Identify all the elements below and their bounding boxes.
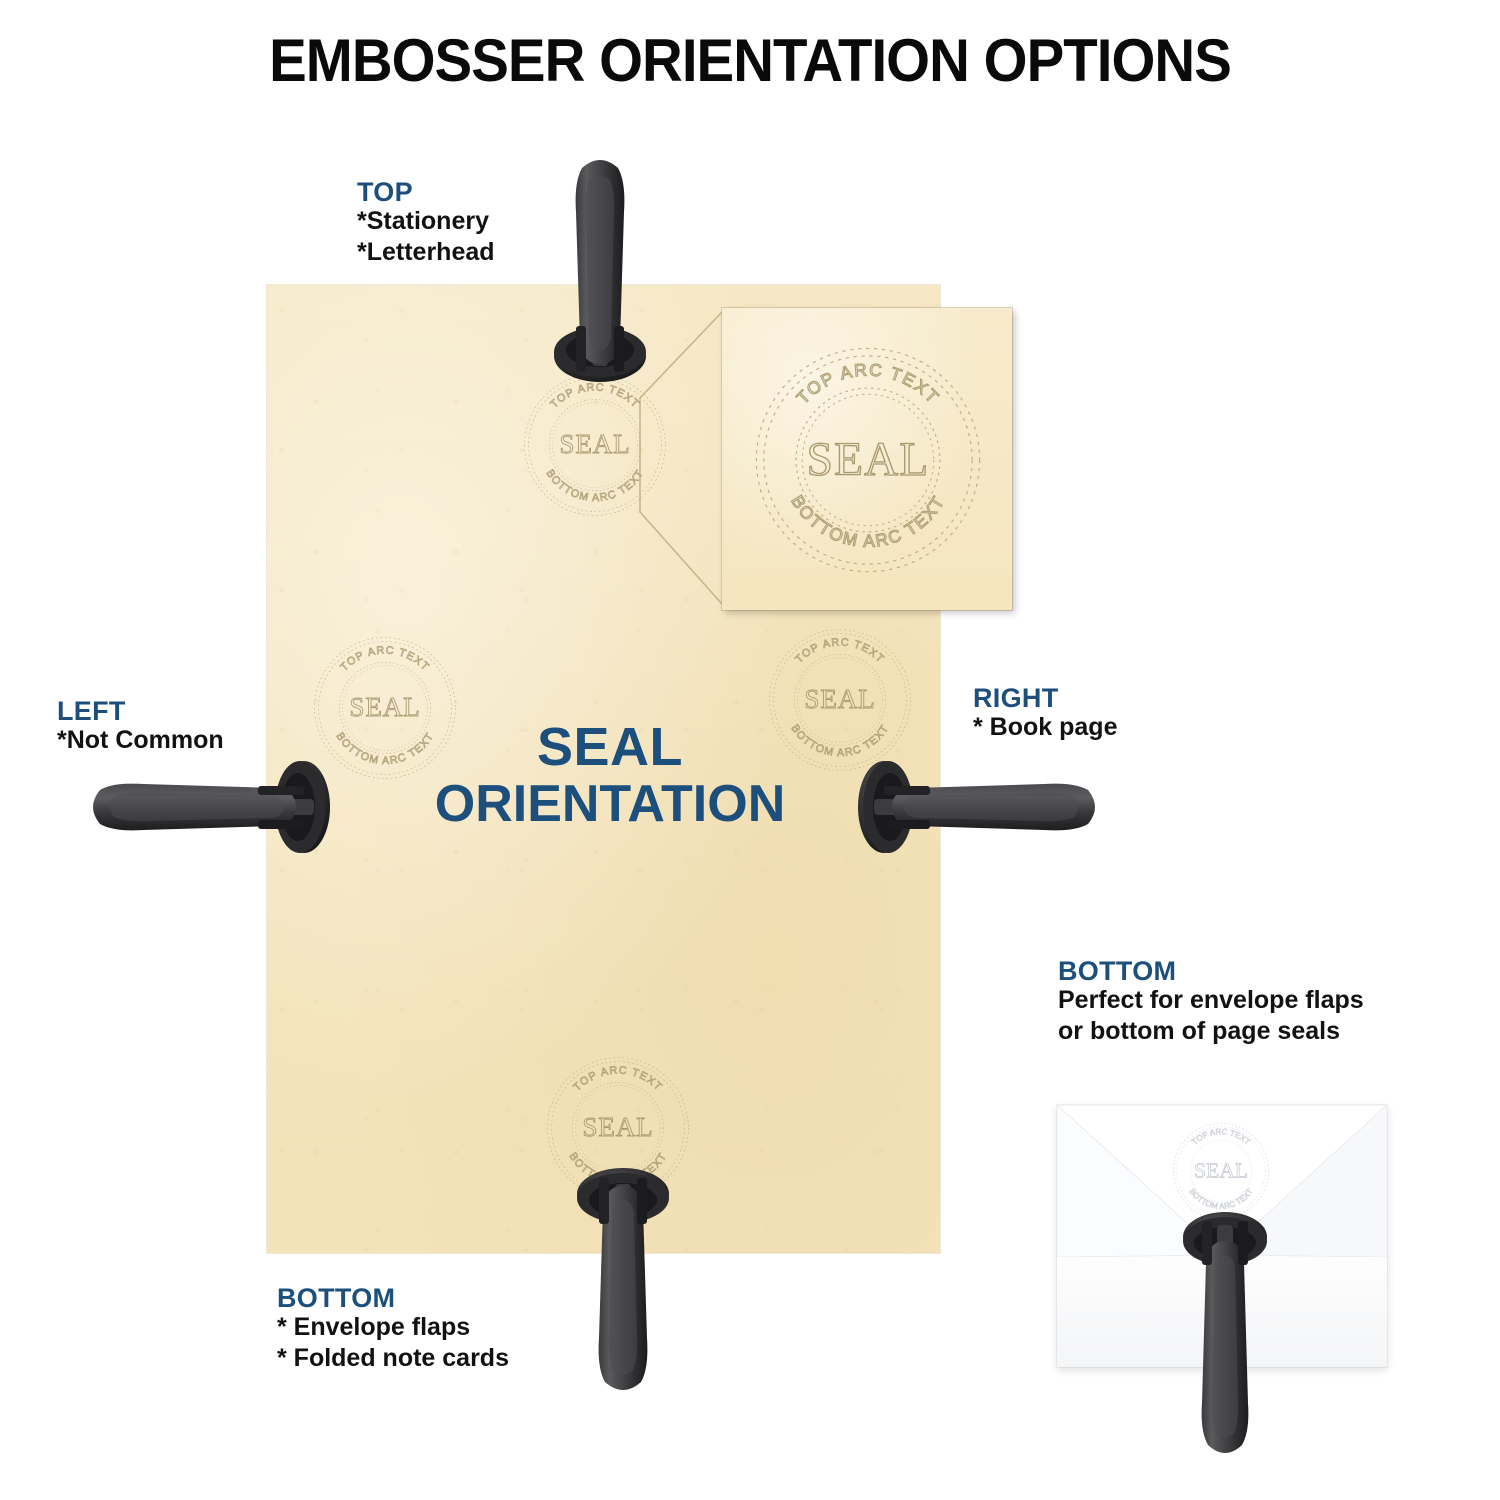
- center-caption-line1: SEAL: [330, 718, 890, 776]
- label-right-line-0: * Book page: [973, 712, 1117, 743]
- envelope-flap: [1057, 1105, 1387, 1257]
- label-top-heading: TOP: [357, 178, 495, 206]
- label-top-line-0: *Stationery: [357, 206, 495, 237]
- center-caption: SEAL ORIENTATION: [330, 718, 890, 832]
- label-left-line-0: *Not Common: [57, 725, 224, 756]
- label-left-heading: LEFT: [57, 697, 224, 725]
- label-bottom-left-heading: BOTTOM: [277, 1284, 509, 1312]
- svg-text:TOP ARC TEXT: TOP ARC TEXT: [792, 359, 943, 407]
- svg-text:BOTTOM ARC TEXT: BOTTOM ARC TEXT: [787, 492, 948, 551]
- label-right: RIGHT * Book page: [973, 684, 1117, 743]
- magnified-seal-panel: TOP ARC TEXT BOTTOM ARC TEXT SEAL: [722, 308, 1012, 610]
- infographic-canvas: EMBOSSER ORIENTATION OPTIONS TOP ARC TEX…: [0, 0, 1500, 1500]
- label-top-line-1: *Letterhead: [357, 237, 495, 268]
- envelope-mockup: TOP ARC TEXT BOTTOM ARC TEXT SEAL: [1057, 1105, 1387, 1367]
- center-caption-line2: ORIENTATION: [330, 776, 890, 832]
- seal-imprint-magnified: TOP ARC TEXT BOTTOM ARC TEXT SEAL: [744, 336, 992, 584]
- label-bottom-left: BOTTOM * Envelope flaps * Folded note ca…: [277, 1284, 509, 1374]
- label-left: LEFT *Not Common: [57, 697, 224, 756]
- label-top: TOP *Stationery *Letterhead: [357, 178, 495, 268]
- label-bottom-right-heading: BOTTOM: [1058, 957, 1364, 985]
- label-bottom-right-line-0: Perfect for envelope flaps: [1058, 985, 1364, 1016]
- label-bottom-left-line-1: * Folded note cards: [277, 1343, 509, 1374]
- svg-text:SEAL: SEAL: [807, 434, 930, 486]
- page-title: EMBOSSER ORIENTATION OPTIONS: [45, 26, 1455, 95]
- label-bottom-left-line-0: * Envelope flaps: [277, 1312, 509, 1343]
- label-bottom-right-line-1: or bottom of page seals: [1058, 1016, 1364, 1047]
- label-right-heading: RIGHT: [973, 684, 1117, 712]
- label-bottom-right: BOTTOM Perfect for envelope flaps or bot…: [1058, 957, 1364, 1047]
